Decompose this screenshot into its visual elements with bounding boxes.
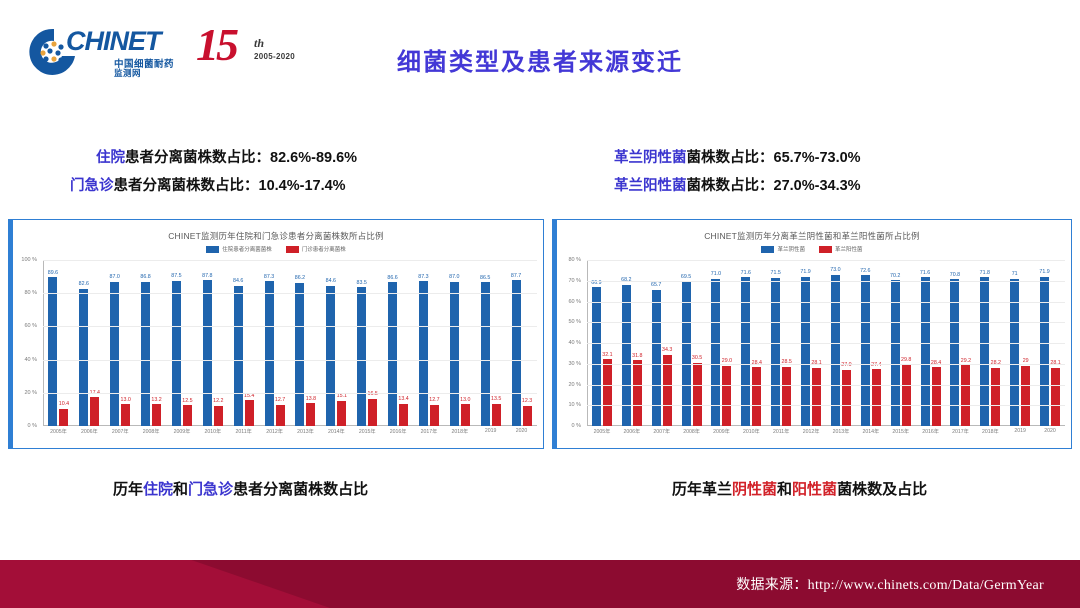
bar[interactable]: 17.4 — [90, 397, 99, 426]
summary-right: 革兰阴性菌菌株数占比：65.7%-73.0% 革兰阳性菌菌株数占比：27.0%-… — [614, 144, 861, 200]
bar[interactable]: 84.6 — [326, 286, 335, 426]
bar[interactable]: 16.5 — [368, 399, 377, 426]
x-axis-tick: 2020 — [1035, 428, 1065, 444]
caption-run: 阳性菌 — [792, 481, 837, 498]
legend-swatch-red — [286, 246, 299, 253]
data-source-text: 数据来源：http://www.chinets.com/Data/GermYea… — [736, 574, 1044, 594]
x-axis-tick: 2016年 — [916, 428, 946, 444]
caption-run: 阴性菌 — [732, 481, 777, 498]
x-axis-tick: 2014年 — [321, 428, 352, 444]
bar-data-label: 71 — [1012, 271, 1018, 277]
legend-label: 革兰阴性菌 — [777, 245, 805, 253]
bar[interactable]: 29.0 — [722, 366, 731, 426]
gridline — [587, 364, 1065, 365]
bar-data-label: 71.0 — [711, 271, 721, 277]
caption-run: 患者分离菌株数占比 — [233, 481, 368, 498]
bar-data-label: 87.0 — [110, 274, 120, 280]
bar-data-label: 86.2 — [295, 275, 305, 281]
bar[interactable]: 83.5 — [357, 287, 366, 426]
y-axis-tick: 10 % — [568, 402, 581, 408]
y-axis-tick: 20 % — [568, 382, 581, 388]
caption-run: 门急诊 — [188, 481, 233, 498]
bar-group: 89.610.4 — [43, 260, 74, 426]
bar-data-label: 12.7 — [429, 397, 439, 403]
legend-label: 革兰阳性菌 — [835, 245, 863, 253]
summary-value: 10.4%-17.4% — [259, 178, 346, 194]
bar-data-label: 87.3 — [418, 274, 428, 280]
bar[interactable]: 15.4 — [245, 400, 254, 426]
bar[interactable]: 10.4 — [59, 409, 68, 426]
x-axis-tick: 2006年 — [74, 428, 105, 444]
bar[interactable]: 73.0 — [831, 275, 840, 426]
bar[interactable]: 87.7 — [512, 280, 521, 426]
bar[interactable]: 30.5 — [693, 363, 702, 426]
bar-data-label: 86.5 — [480, 275, 490, 281]
bar-data-label: 89.6 — [48, 270, 58, 276]
bar-data-label: 69.5 — [681, 274, 691, 280]
x-axis-labels: 2005年2006年2007年2008年2009年2010年2011年2012年… — [587, 428, 1065, 444]
bar[interactable]: 28.1 — [812, 368, 821, 426]
bar-data-label: 84.6 — [326, 278, 336, 284]
summary-highlight: 革兰阳性菌 — [614, 178, 687, 194]
bar[interactable]: 87.0 — [110, 282, 119, 426]
bar-group: 84.615.4 — [228, 260, 259, 426]
x-axis-tick: 2005年 — [43, 428, 74, 444]
bar-group: 87.512.5 — [167, 260, 198, 426]
x-axis-tick: 2019 — [475, 428, 506, 444]
bar-data-label: 86.8 — [140, 274, 150, 280]
bar-data-label: 87.3 — [264, 274, 274, 280]
bar[interactable]: 27.0 — [842, 370, 851, 426]
bar[interactable]: 87.3 — [265, 281, 274, 426]
bar-data-label: 32.1 — [602, 352, 612, 358]
summary-line-outpatient: 门急诊患者分离菌株数占比：10.4%-17.4% — [70, 172, 357, 200]
gridline — [587, 260, 1065, 261]
y-axis-tick: 30 % — [568, 361, 581, 367]
x-axis-tick: 2013年 — [290, 428, 321, 444]
x-axis-tick: 2006年 — [617, 428, 647, 444]
x-axis-tick: 2012年 — [796, 428, 826, 444]
legend-swatch-blue — [761, 246, 774, 253]
x-axis-tick: 2010年 — [736, 428, 766, 444]
bar-group: 87.013.0 — [105, 260, 136, 426]
chart-panel-patient-source: CHINET监测历年住院和门急诊患者分离菌株数所占比例 住院患者分离菌菌株 门诊… — [8, 219, 544, 449]
caption-run: 历年 — [113, 481, 143, 498]
bar[interactable]: 29 — [1021, 366, 1030, 426]
bar[interactable]: 12.7 — [430, 405, 439, 426]
chart-plot-area: 0 %10 %20 %30 %40 %50 %60 %70 %80 % 66.9… — [587, 260, 1065, 426]
y-axis-tick: 40 % — [568, 340, 581, 346]
bar-data-label: 15.1 — [337, 393, 347, 399]
gridline — [43, 360, 537, 361]
caption-run: 和 — [777, 481, 792, 498]
summary-value: 27.0%-34.3% — [774, 178, 861, 194]
bar[interactable]: 86.6 — [388, 282, 397, 426]
x-axis-tick: 2018年 — [444, 428, 475, 444]
bar[interactable]: 71.5 — [771, 278, 780, 426]
gridline — [587, 302, 1065, 303]
bar-group: 84.615.1 — [321, 260, 352, 426]
bar-data-label: 65.7 — [651, 282, 661, 288]
summary-value: 82.6%-89.6% — [270, 150, 357, 166]
x-axis-tick: 2012年 — [259, 428, 290, 444]
bar[interactable]: 13.2 — [152, 404, 161, 426]
x-axis-tick: 2008年 — [677, 428, 707, 444]
x-axis-tick: 2005年 — [587, 428, 617, 444]
y-axis-tick: 100 % — [21, 257, 37, 263]
bar-data-label: 70.2 — [890, 273, 900, 279]
gridline — [43, 260, 537, 261]
summary-line-inpatient: 住院患者分离菌株数占比：82.6%-89.6% — [96, 144, 357, 172]
chart-title: CHINET监测历年住院和门急诊患者分离菌株数所占比例 — [9, 230, 543, 242]
bar-group: 86.213.8 — [290, 260, 321, 426]
caption-run: 住院 — [143, 481, 173, 498]
bar-groups: 89.610.482.617.487.013.086.813.287.512.5… — [43, 260, 537, 426]
bar[interactable]: 89.6 — [48, 277, 57, 426]
bar[interactable]: 71.8 — [980, 277, 989, 426]
bar-data-label: 82.6 — [79, 281, 89, 287]
bar[interactable]: 29.2 — [961, 365, 970, 426]
legend-item-outpatient: 门诊患者分离菌株 — [286, 245, 346, 253]
x-axis-tick: 2014年 — [856, 428, 886, 444]
legend-label: 住院患者分离菌菌株 — [222, 245, 272, 253]
page-title: 细菌类型及患者来源变迁 — [0, 42, 1080, 77]
summary-rest: 菌株数占比： — [687, 178, 774, 194]
x-axis-tick: 2020 — [506, 428, 537, 444]
bar-data-label: 86.6 — [387, 275, 397, 281]
bar-data-label: 13.2 — [151, 397, 161, 403]
summary-highlight: 革兰阴性菌 — [614, 150, 687, 166]
bar-data-label: 30.5 — [692, 355, 702, 361]
x-axis-tick: 2018年 — [975, 428, 1005, 444]
bar-data-label: 12.3 — [522, 398, 532, 404]
bar-data-label: 12.5 — [182, 398, 192, 404]
bar[interactable]: 28.5 — [782, 367, 791, 426]
bar[interactable]: 12.3 — [523, 406, 532, 426]
bar[interactable]: 86.5 — [481, 282, 490, 426]
bar-data-label: 87.0 — [449, 274, 459, 280]
chart-legend: 革兰阴性菌 革兰阳性菌 — [553, 245, 1071, 253]
bar-data-label: 29.8 — [901, 357, 911, 363]
caption-run: 和 — [173, 481, 188, 498]
bar-data-label: 13.0 — [121, 397, 131, 403]
chart-legend: 住院患者分离菌菌株 门诊患者分离菌株 — [9, 245, 543, 253]
bar[interactable]: 28.4 — [932, 367, 941, 426]
chart-title: CHINET监测历年分离革兰阴性菌和革兰阳性菌所占比例 — [553, 230, 1071, 242]
legend-item-gram-negative: 革兰阴性菌 — [761, 245, 805, 253]
bar[interactable]: 87.5 — [172, 281, 181, 426]
bar-group: 87.312.7 — [259, 260, 290, 426]
bar-data-label: 12.2 — [213, 398, 223, 404]
x-axis-tick: 2016年 — [383, 428, 414, 444]
legend-item-gram-positive: 革兰阳性菌 — [819, 245, 863, 253]
bar-data-label: 71.6 — [920, 270, 930, 276]
bar-group: 83.516.5 — [352, 260, 383, 426]
gridline — [43, 293, 537, 294]
bar[interactable]: 12.2 — [214, 406, 223, 426]
bar[interactable]: 71.9 — [801, 277, 810, 426]
bar[interactable]: 12.5 — [183, 405, 192, 426]
bar[interactable]: 29.8 — [902, 364, 911, 426]
bar[interactable]: 15.1 — [337, 401, 346, 426]
bar-group: 86.513.5 — [475, 260, 506, 426]
bar[interactable]: 13.4 — [399, 404, 408, 426]
bar-group: 82.617.4 — [74, 260, 105, 426]
gridline — [43, 326, 537, 327]
bar-data-label: 13.0 — [460, 397, 470, 403]
legend-swatch-red — [819, 246, 832, 253]
y-axis-tick: 60 % — [568, 299, 581, 305]
bar[interactable]: 71.6 — [921, 277, 930, 426]
x-axis-tick: 2015年 — [352, 428, 383, 444]
bar[interactable]: 84.6 — [234, 286, 243, 426]
bar-data-label: 73.0 — [830, 267, 840, 273]
bar[interactable]: 87.8 — [203, 280, 212, 426]
y-axis: 0 %10 %20 %30 %40 %50 %60 %70 %80 % — [553, 260, 585, 426]
summary-left: 住院患者分离菌株数占比：82.6%-89.6% 门急诊患者分离菌株数占比：10.… — [96, 144, 357, 200]
gridline — [587, 405, 1065, 406]
gridline — [43, 393, 537, 394]
bar-group: 87.712.3 — [506, 260, 537, 426]
y-axis-tick: 50 % — [568, 319, 581, 325]
bar-data-label: 87.8 — [202, 273, 212, 279]
bar-data-label: 15.4 — [244, 393, 254, 399]
summary-line-gram-positive: 革兰阳性菌菌株数占比：27.0%-34.3% — [614, 172, 861, 200]
summary-highlight: 住院 — [96, 150, 125, 166]
bar-data-label: 10.4 — [59, 401, 69, 407]
summary-rest: 菌株数占比： — [687, 150, 774, 166]
x-axis-tick: 2013年 — [826, 428, 856, 444]
bar[interactable]: 28.1 — [1051, 368, 1060, 426]
caption-left: 历年住院和门急诊患者分离菌株数占比 — [113, 478, 368, 499]
bar[interactable]: 82.6 — [79, 289, 88, 426]
bar-group: 87.812.2 — [197, 260, 228, 426]
y-axis-tick: 20 % — [24, 390, 37, 396]
bar[interactable]: 13.5 — [492, 404, 501, 426]
bar[interactable]: 72.6 — [861, 275, 870, 426]
bar[interactable]: 12.7 — [276, 405, 285, 426]
bar-data-label: 87.5 — [171, 273, 181, 279]
gridline — [587, 281, 1065, 282]
summary-line-gram-negative: 革兰阴性菌菌株数占比：65.7%-73.0% — [614, 144, 861, 172]
y-axis-tick: 0 % — [28, 423, 37, 429]
x-axis-tick: 2019 — [1005, 428, 1035, 444]
x-axis-tick: 2010年 — [197, 428, 228, 444]
summary-value: 65.7%-73.0% — [774, 150, 861, 166]
y-axis-tick: 70 % — [568, 278, 581, 284]
chart-plot-area: 0 %20 %40 %60 %80 %100 % 89.610.482.617.… — [43, 260, 537, 426]
x-axis-tick: 2017年 — [414, 428, 445, 444]
bar[interactable]: 71.6 — [741, 277, 750, 426]
bar-data-label: 13.5 — [491, 396, 501, 402]
bar[interactable]: 87.0 — [450, 282, 459, 426]
caption-run: 历年革兰 — [672, 481, 732, 498]
bar-data-label: 12.7 — [275, 397, 285, 403]
bar-group: 87.312.7 — [414, 260, 445, 426]
bar-data-label: 71.5 — [771, 270, 781, 276]
x-axis-tick: 2007年 — [647, 428, 677, 444]
bar-data-label: 34.3 — [662, 347, 672, 353]
bar[interactable]: 13.8 — [306, 403, 315, 426]
bar-data-label: 71.9 — [800, 269, 810, 275]
bar-data-label: 72.6 — [860, 268, 870, 274]
bar[interactable]: 34.3 — [663, 355, 672, 426]
legend-item-inpatient: 住院患者分离菌菌株 — [206, 245, 272, 253]
bar-group: 86.813.2 — [136, 260, 167, 426]
bar-data-label: 71.8 — [980, 270, 990, 276]
summary-block: 住院患者分离菌株数占比：82.6%-89.6% 门急诊患者分离菌株数占比：10.… — [0, 144, 1080, 204]
slide-header: CHINET 中国细菌耐药 监测网 15 th 2005-2020 细菌类型及患… — [0, 0, 1080, 110]
gridline — [587, 322, 1065, 323]
bar-data-label: 71.9 — [1039, 269, 1049, 275]
caption-run: 菌株数及占比 — [837, 481, 927, 498]
bar[interactable]: 86.2 — [295, 283, 304, 426]
bar-data-label: 84.6 — [233, 278, 243, 284]
bar[interactable]: 71.9 — [1040, 277, 1049, 426]
bar[interactable]: 87.3 — [419, 281, 428, 426]
bar-data-label: 31.8 — [632, 353, 642, 359]
bar[interactable]: 13.0 — [121, 404, 130, 426]
bar-data-label: 13.4 — [398, 396, 408, 402]
bar[interactable]: 86.8 — [141, 282, 150, 426]
y-axis-tick: 80 % — [568, 257, 581, 263]
x-axis-tick: 2017年 — [946, 428, 976, 444]
bar-data-label: 70.8 — [950, 272, 960, 278]
slide-footer: 数据来源：http://www.chinets.com/Data/GermYea… — [0, 560, 1080, 608]
chart-panel-gram-type: CHINET监测历年分离革兰阴性菌和革兰阳性菌所占比例 革兰阴性菌 革兰阳性菌 … — [552, 219, 1072, 449]
y-axis: 0 %20 %40 %60 %80 %100 % — [9, 260, 41, 426]
caption-right: 历年革兰阴性菌和阳性菌菌株数及占比 — [672, 478, 927, 499]
bar[interactable]: 27.4 — [872, 369, 881, 426]
legend-label: 门诊患者分离菌株 — [302, 245, 346, 253]
bar-data-label: 13.8 — [306, 396, 316, 402]
bar[interactable]: 13.0 — [461, 404, 470, 426]
footer-wave-shape — [0, 560, 330, 608]
x-axis-tick: 2008年 — [136, 428, 167, 444]
bar[interactable]: 31.8 — [633, 360, 642, 426]
y-axis-tick: 80 % — [24, 290, 37, 296]
x-axis-tick: 2015年 — [886, 428, 916, 444]
gridline — [587, 343, 1065, 344]
x-axis-tick: 2011年 — [228, 428, 259, 444]
bar-data-label: 83.5 — [357, 280, 367, 286]
bar-group: 86.613.4 — [383, 260, 414, 426]
summary-rest: 患者分离菌株数占比： — [125, 150, 270, 166]
bar-data-label: 71.6 — [741, 270, 751, 276]
summary-highlight: 门急诊 — [70, 178, 114, 194]
gridline — [587, 385, 1065, 386]
x-axis-tick: 2009年 — [167, 428, 198, 444]
summary-rest: 患者分离菌株数占比： — [114, 178, 259, 194]
bar-data-label: 87.7 — [511, 273, 521, 279]
bar[interactable]: 32.1 — [603, 359, 612, 426]
x-axis-labels: 2005年2006年2007年2008年2009年2010年2011年2012年… — [43, 428, 537, 444]
bar[interactable]: 28.4 — [752, 367, 761, 426]
bar-group: 87.013.0 — [444, 260, 475, 426]
y-axis-tick: 0 % — [572, 423, 581, 429]
x-axis-tick: 2009年 — [707, 428, 737, 444]
y-axis-tick: 60 % — [24, 323, 37, 329]
legend-swatch-blue — [206, 246, 219, 253]
y-axis-tick: 40 % — [24, 357, 37, 363]
bar[interactable]: 28.2 — [991, 368, 1000, 427]
x-axis-tick: 2011年 — [766, 428, 796, 444]
x-axis-tick: 2007年 — [105, 428, 136, 444]
